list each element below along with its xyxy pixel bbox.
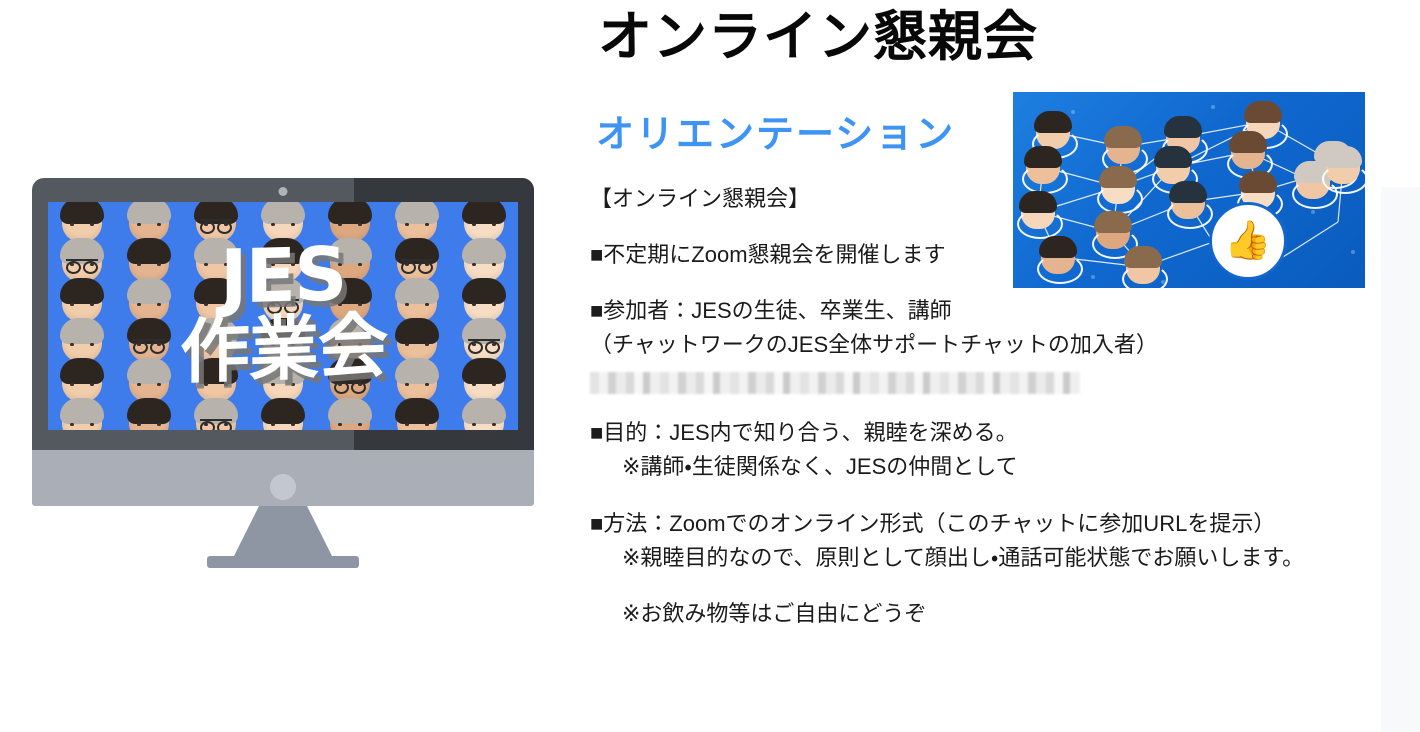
avatar-face [330, 402, 370, 430]
avatar-hair [328, 238, 372, 264]
article-page: JES 作業会 [0, 0, 1420, 732]
monitor-screen: JES 作業会 [48, 202, 518, 430]
avatar-hair [60, 318, 104, 344]
avatar-face [397, 402, 437, 430]
avatar-hair [261, 238, 305, 264]
avatar-eyes [405, 343, 429, 346]
avatar-eyes [472, 263, 496, 266]
avatar-hair [127, 278, 171, 304]
avatar-hair [395, 278, 439, 304]
body-line-purpose-note: ※講師・生徒関係なく、JESの仲間として [590, 450, 1380, 484]
avatar-hair [60, 202, 104, 224]
avatar-eyes [137, 423, 161, 426]
avatar-hair [328, 398, 372, 424]
avatar-face [196, 242, 236, 282]
avatar-eyes [137, 223, 161, 226]
avatar-face [62, 202, 102, 242]
avatar-eyes [137, 303, 161, 306]
avatar-eyes [405, 423, 429, 426]
avatar-face [129, 202, 169, 242]
avatar-hair [60, 358, 104, 384]
avatar-eyes [271, 223, 295, 226]
avatar-hair [462, 398, 506, 424]
avatar-eyes [271, 343, 295, 346]
avatar-face [129, 402, 169, 430]
avatar-eyes [204, 303, 228, 306]
avatar-eyes [405, 303, 429, 306]
avatar-eyes [70, 343, 94, 346]
avatar-eyes [338, 343, 362, 346]
avatar-face [196, 202, 236, 242]
avatar-hair [194, 278, 238, 304]
avatar-hair [462, 238, 506, 264]
body-bracket-heading: 【オンライン懇親会】 [590, 182, 1380, 216]
avatar-glasses-icon [66, 259, 98, 270]
avatar-glasses-icon [267, 299, 299, 310]
webcam-icon [279, 187, 288, 196]
page-title: オンライン懇親会 [598, 6, 1038, 68]
avatar-eyes [70, 223, 94, 226]
avatar-eyes [472, 303, 496, 306]
redacted-text-line [590, 372, 1080, 394]
avatar-eyes [405, 223, 429, 226]
avatar-face [330, 242, 370, 282]
avatar-hair [127, 358, 171, 384]
avatar-glasses-icon [133, 339, 165, 350]
avatar-face [129, 242, 169, 282]
avatar-face [129, 282, 169, 322]
avatar-eyes [137, 383, 161, 386]
avatar-glasses-icon [401, 259, 433, 270]
avatar-face [464, 362, 504, 402]
avatar-glasses-icon [200, 419, 232, 430]
avatar-eyes [271, 423, 295, 426]
avatar-face [62, 362, 102, 402]
avatar-face [330, 322, 370, 362]
article-column: オンライン懇親会 オリエンテーション 【オンライン懇親会】 ■不定期にZoom懇… [590, 0, 1390, 732]
monitor-illustration: JES 作業会 [32, 178, 534, 568]
avatar-face [330, 282, 370, 322]
avatar-face [196, 322, 236, 362]
monitor-stand-base [207, 556, 359, 568]
avatar-face [397, 202, 437, 242]
avatar-hair [328, 318, 372, 344]
avatar-eyes [405, 383, 429, 386]
avatar-face [62, 282, 102, 322]
avatar-hair [60, 278, 104, 304]
avatar-glasses-icon [334, 379, 366, 390]
avatar-face [397, 242, 437, 282]
avatar-face [196, 282, 236, 322]
avatar-face [464, 322, 504, 362]
avatar-hair [127, 398, 171, 424]
monitor-logo-icon [270, 474, 296, 500]
avatar-eyes [70, 423, 94, 426]
body-line-purpose: ■目的：JES内で知り合う、親睦を深める。 [590, 416, 1380, 450]
avatar-hair [462, 358, 506, 384]
avatar-face [263, 242, 303, 282]
avatar-hair [261, 318, 305, 344]
avatar-hair [261, 358, 305, 384]
avatar-hair [328, 278, 372, 304]
body-line-participants-note: （チャットワークのJES全体サポートチャットの加入者） [590, 328, 1380, 362]
avatar-face [62, 242, 102, 282]
avatar-face [196, 362, 236, 402]
body-line-participants: ■参加者：JESの生徒、卒業生、講師 [590, 294, 1380, 328]
avatar-hair [395, 202, 439, 224]
avatar-face [263, 362, 303, 402]
avatar-face [397, 282, 437, 322]
avatar-eyes [204, 343, 228, 346]
avatar-eyes [137, 263, 161, 266]
avatar-grid [48, 202, 518, 430]
avatar-face [263, 402, 303, 430]
avatar-face [330, 202, 370, 242]
body-line-method-note: ※親睦目的なので、原則として顔出し・通話可能状態でお願いします。 [590, 541, 1380, 575]
body-line-drinks: ※お飲み物等はご自由にどうぞ [590, 597, 1380, 631]
avatar-hair [194, 238, 238, 264]
avatar-eyes [204, 383, 228, 386]
body-line-method: ■方法：Zoomでのオンライン形式（このチャットに参加URLを提示） [590, 507, 1380, 541]
avatar-glasses-icon [200, 219, 232, 230]
avatar-eyes [338, 223, 362, 226]
avatar-face [62, 402, 102, 430]
avatar-hair [462, 202, 506, 224]
avatar-eyes [472, 223, 496, 226]
avatar-face [196, 402, 236, 430]
avatar-face [464, 242, 504, 282]
avatar-eyes [338, 303, 362, 306]
avatar-glasses-icon [468, 339, 500, 350]
monitor-stand-neck [233, 506, 333, 558]
avatar-face [464, 282, 504, 322]
avatar-face [397, 362, 437, 402]
avatar-hair [462, 278, 506, 304]
avatar-eyes [70, 303, 94, 306]
avatar-eyes [338, 263, 362, 266]
avatar-face [263, 282, 303, 322]
avatar-hair [261, 398, 305, 424]
avatar-hair [261, 202, 305, 224]
avatar-hair [127, 238, 171, 264]
avatar-eyes [271, 263, 295, 266]
avatar-hair [395, 318, 439, 344]
avatar-face [464, 402, 504, 430]
avatar-eyes [271, 383, 295, 386]
avatar-hair [328, 202, 372, 224]
avatar-face [62, 322, 102, 362]
avatar-eyes [338, 423, 362, 426]
avatar-hair [60, 398, 104, 424]
avatar-eyes [472, 383, 496, 386]
avatar-face [464, 202, 504, 242]
avatar-face [129, 362, 169, 402]
section-subtitle: オリエンテーション [596, 114, 955, 158]
avatar-hair [194, 318, 238, 344]
avatar-eyes [204, 263, 228, 266]
avatar-hair [395, 398, 439, 424]
avatar-hair [395, 358, 439, 384]
avatar-face [263, 322, 303, 362]
body-line-schedule: ■不定期にZoom懇親会を開催します [590, 238, 1380, 272]
avatar-hair [127, 202, 171, 224]
avatar-face [330, 362, 370, 402]
avatar-eyes [472, 423, 496, 426]
avatar-eyes [70, 383, 94, 386]
avatar-face [397, 322, 437, 362]
avatar-face [129, 322, 169, 362]
article-body: 【オンライン懇親会】 ■不定期にZoom懇親会を開催します ■参加者：JESの生… [590, 182, 1380, 631]
avatar-face [263, 202, 303, 242]
avatar-hair [194, 358, 238, 384]
